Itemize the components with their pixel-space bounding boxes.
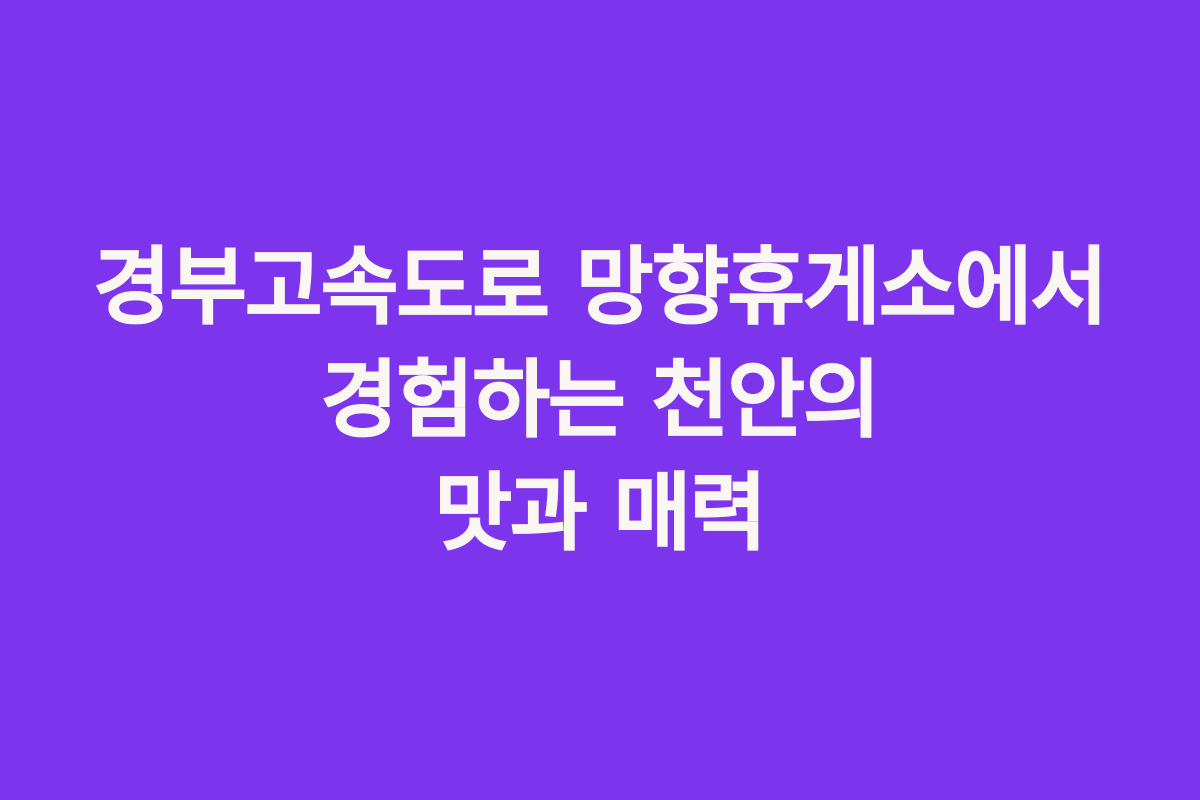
headline-line-3: 맛과 매력 — [30, 457, 1170, 570]
banner-canvas: 경부고속도로 망향휴게소에서 경험하는 천안의 맛과 매력 — [0, 0, 1200, 800]
headline-line-2: 경험하는 천안의 — [30, 344, 1170, 457]
headline-line-1: 경부고속도로 망향휴게소에서 — [30, 231, 1170, 344]
page-title: 경부고속도로 망향휴게소에서 경험하는 천안의 맛과 매력 — [30, 231, 1170, 570]
